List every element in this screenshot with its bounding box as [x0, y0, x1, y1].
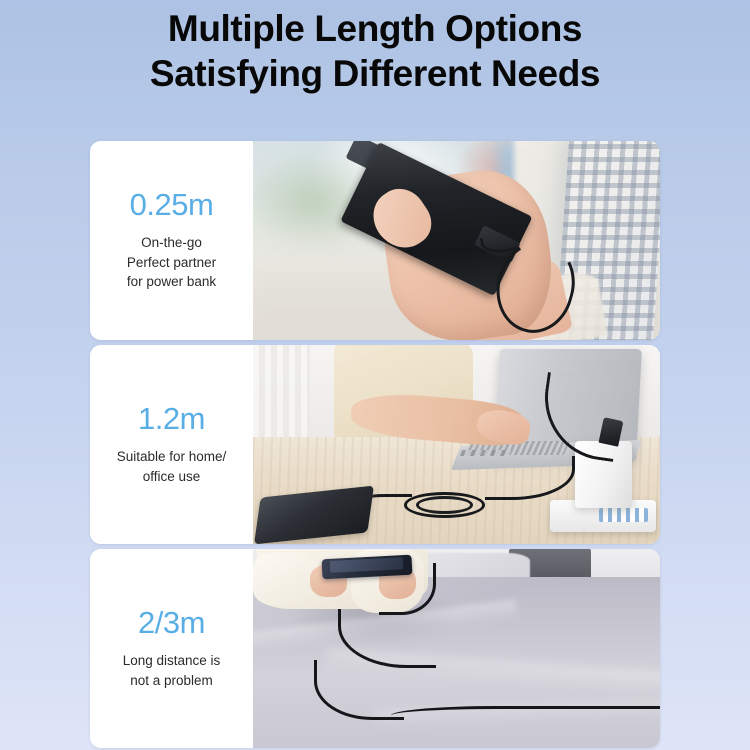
photo-power-strip-sockets: [599, 508, 648, 522]
photo-cable-coil-inner: [416, 496, 473, 514]
photo-curtain: [253, 345, 310, 439]
card-description: Long distance is not a problem: [123, 651, 221, 691]
card-length-label: 0.25m: [130, 189, 214, 220]
card-description-line: Suitable for home/: [117, 447, 227, 467]
card-description-line: office use: [117, 467, 227, 487]
card-description: On-the-go Perfect partner for power bank: [127, 233, 216, 293]
length-option-card: 0.25m On-the-go Perfect partner for powe…: [90, 141, 660, 340]
card-text-panel: 1.2m Suitable for home/ office use: [90, 345, 253, 544]
card-photo-bed-gaming: [253, 549, 660, 748]
card-text-panel: 0.25m On-the-go Perfect partner for powe…: [90, 141, 253, 340]
card-photo-power-bank: [253, 141, 660, 340]
card-description-line: for power bank: [127, 272, 216, 292]
length-option-card: 2/3m Long distance is not a problem: [90, 549, 660, 748]
photo-sweater-sleeve-left: [253, 553, 318, 605]
page-headline: Multiple Length Options Satisfying Diffe…: [0, 6, 750, 96]
photo-cable-segment: [391, 706, 660, 730]
length-option-card: 1.2m Suitable for home/ office use: [90, 345, 660, 544]
card-description-line: not a problem: [123, 671, 221, 691]
card-photo-desk-setup: [253, 345, 660, 544]
headline-line-2: Satisfying Different Needs: [0, 51, 750, 96]
card-length-label: 1.2m: [138, 403, 205, 434]
card-description-line: Long distance is: [123, 651, 221, 671]
length-option-card-list: 0.25m On-the-go Perfect partner for powe…: [90, 141, 660, 748]
card-description: Suitable for home/ office use: [117, 447, 227, 487]
card-length-label: 2/3m: [138, 607, 205, 638]
card-description-line: Perfect partner: [127, 253, 216, 273]
card-description-line: On-the-go: [127, 233, 216, 253]
card-text-panel: 2/3m Long distance is not a problem: [90, 549, 253, 748]
headline-line-1: Multiple Length Options: [168, 8, 582, 49]
